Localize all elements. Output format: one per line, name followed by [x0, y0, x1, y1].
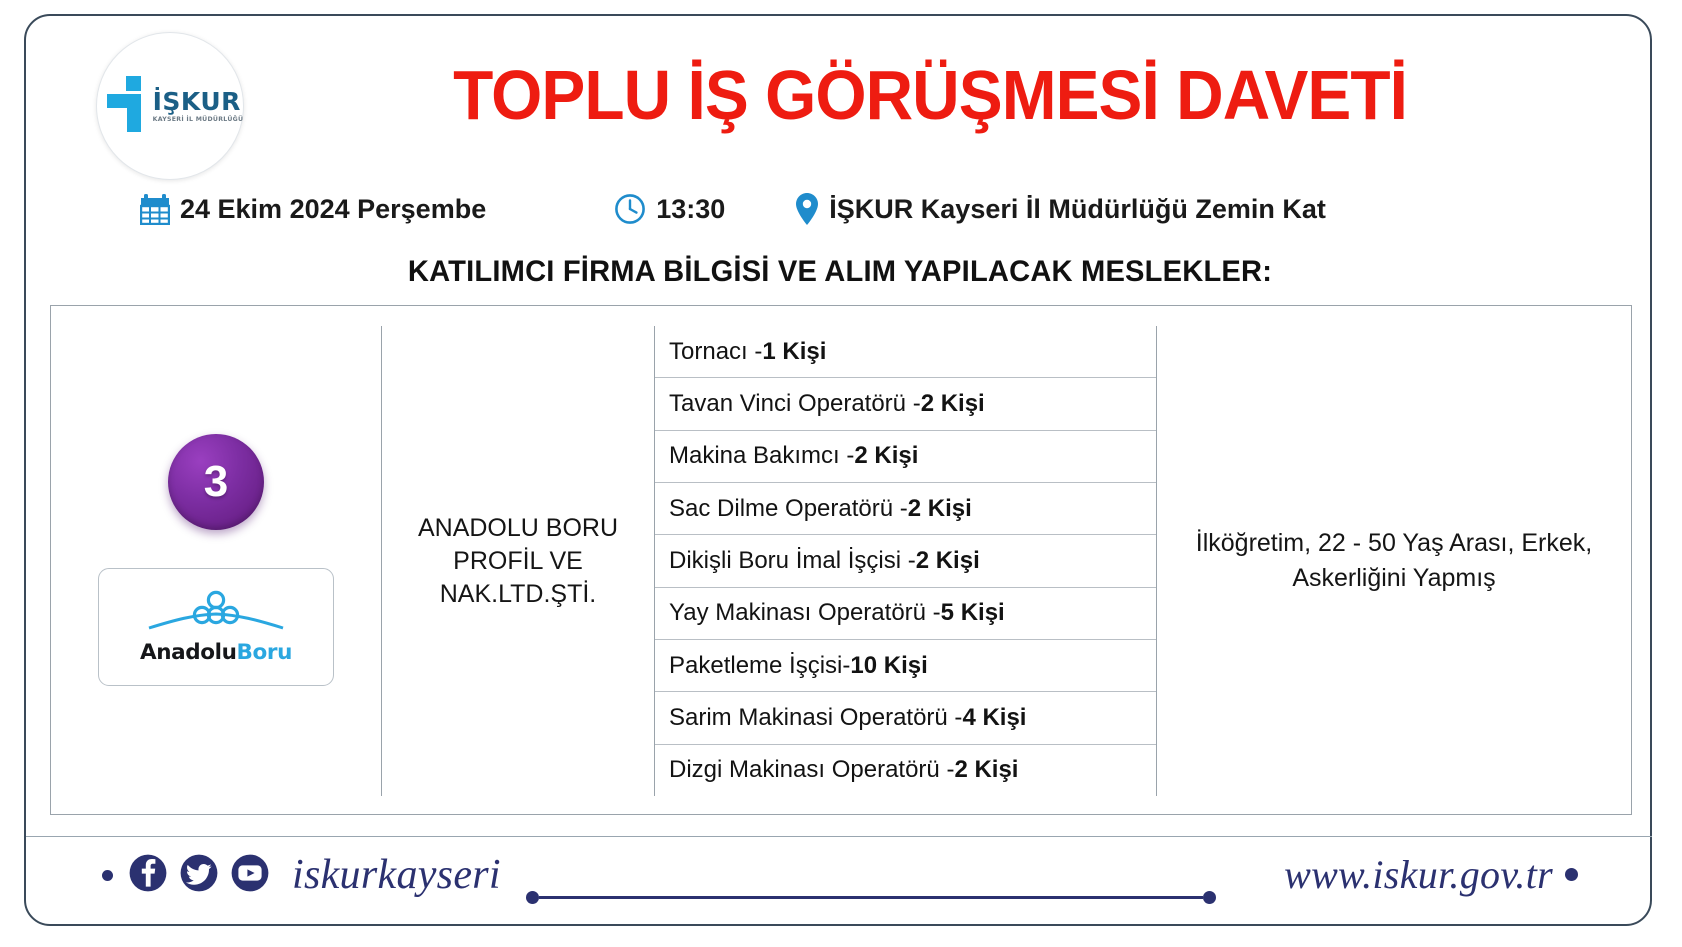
section-subtitle: KATILIMCI FİRMA BİLGİSİ VE ALIM YAPILACA…: [74, 255, 1607, 289]
job-count: 2 Kişi: [954, 756, 1018, 784]
job-title: Yay Makinası Operatörü -: [669, 599, 941, 627]
event-location-text: İŞKUR Kayseri İl Müdürlüğü Zemin Kat: [829, 194, 1326, 225]
list-item: Dizgi Makinası Operatörü - 2 Kişi: [655, 745, 1156, 796]
entry-number-badge: 3: [168, 434, 264, 530]
job-title: Makina Bakımcı -: [669, 442, 854, 470]
youtube-icon[interactable]: [230, 853, 270, 898]
job-count: 5 Kişi: [941, 599, 1005, 627]
iskur-logo-word: İŞKUR: [153, 89, 241, 114]
footer: iskurkayseri www.iskur.gov.tr: [26, 836, 1652, 925]
job-count: 2 Kişi: [854, 442, 918, 470]
event-location: İŞKUR Kayseri İl Müdürlüğü Zemin Kat: [795, 192, 1326, 226]
job-title: Sac Dilme Operatörü -: [669, 495, 908, 523]
job-title: Tavan Vinci Operatörü -: [669, 390, 921, 418]
job-title: Paketleme İşçisi-: [669, 652, 850, 680]
company-logo-text: AnadoluBoru: [140, 640, 292, 665]
event-time: 13:30: [614, 193, 725, 225]
company-logo: AnadoluBoru: [98, 568, 334, 686]
job-count: 2 Kişi: [916, 547, 980, 575]
iskur-logo: İŞKUR KAYSERİ İL MÜDÜRLÜĞÜ: [96, 32, 244, 180]
list-item: Makina Bakımcı - 2 Kişi: [655, 431, 1156, 483]
job-title: Tornacı -: [669, 338, 762, 366]
list-item: Tornacı - 1 Kişi: [655, 326, 1156, 378]
requirements-cell: İlköğretim, 22 - 50 Yaş Arası, Erkek, As…: [1157, 326, 1631, 796]
bullet-dot: [102, 870, 113, 881]
bullet-dot: [1565, 868, 1578, 881]
event-time-text: 13:30: [656, 194, 725, 225]
bullet-dot: [526, 891, 539, 904]
iskur-logo-icon: [105, 74, 149, 139]
event-date: 24 Ekim 2024 Perşembe: [140, 193, 486, 225]
job-count: 2 Kişi: [908, 495, 972, 523]
website-text[interactable]: www.iskur.gov.tr: [1284, 851, 1553, 898]
company-logo-text-blue: Boru: [237, 640, 292, 665]
job-count: 1 Kişi: [762, 338, 826, 366]
footer-divider: [526, 891, 1216, 904]
page-title: TOPLU İŞ GÖRÜŞMESİ DAVETİ: [432, 55, 1428, 135]
requirements-text: İlköğretim, 22 - 50 Yaş Arası, Erkek, As…: [1179, 526, 1609, 597]
bullet-dot: [1203, 891, 1216, 904]
event-info-row: 24 Ekim 2024 Perşembe 13:30 İŞKUR Kayser…: [140, 186, 1500, 232]
facebook-icon[interactable]: [128, 853, 168, 898]
job-count: 4 Kişi: [962, 704, 1026, 732]
participants-table: 3 AnadoluBoru: [50, 305, 1632, 815]
list-item: Paketleme İşçisi- 10 Kişi: [655, 640, 1156, 692]
social-links: iskurkayseri: [102, 851, 501, 899]
list-item: Dikişli Boru İmal İşçisi - 2 Kişi: [655, 535, 1156, 587]
company-name-text: ANADOLU BORU PROFİL VE NAK.LTD.ŞTİ.: [396, 512, 640, 611]
job-count: 10 Kişi: [850, 652, 927, 680]
company-name-cell: ANADOLU BORU PROFİL VE NAK.LTD.ŞTİ.: [382, 326, 654, 796]
map-pin-icon: [795, 192, 819, 226]
list-item: Yay Makinası Operatörü - 5 Kişi: [655, 588, 1156, 640]
list-item: Tavan Vinci Operatörü - 2 Kişi: [655, 378, 1156, 430]
job-title: Dizgi Makinası Operatörü -: [669, 756, 954, 784]
list-item: Sarim Makinasi Operatörü - 4 Kişi: [655, 692, 1156, 744]
twitter-icon[interactable]: [179, 853, 219, 898]
event-date-text: 24 Ekim 2024 Perşembe: [180, 194, 486, 225]
company-logo-text-dark: Anadolu: [140, 640, 237, 665]
job-count: 2 Kişi: [921, 390, 985, 418]
iskur-logo-subtitle: KAYSERİ İL MÜDÜRLÜĞÜ: [153, 117, 244, 123]
table-row: ANADOLU BORU PROFİL VE NAK.LTD.ŞTİ. Torn…: [381, 326, 1631, 796]
list-item: Sac Dilme Operatörü - 2 Kişi: [655, 483, 1156, 535]
entry-badge-column: 3 AnadoluBoru: [51, 306, 381, 814]
poster-root: İŞKUR KAYSERİ İL MÜDÜRLÜĞÜ TOPLU İŞ GÖRÜ…: [0, 0, 1682, 947]
divider-line: [539, 896, 1203, 899]
calendar-icon: [140, 193, 170, 225]
social-handle[interactable]: iskurkayseri: [292, 851, 501, 899]
job-title: Sarim Makinasi Operatörü -: [669, 704, 962, 732]
jobs-column: Tornacı - 1 Kişi Tavan Vinci Operatörü -…: [654, 326, 1157, 796]
job-title: Dikişli Boru İmal İşçisi -: [669, 547, 916, 575]
website-link[interactable]: www.iskur.gov.tr: [1284, 851, 1578, 898]
anadolu-boru-pipes-icon: [141, 590, 291, 639]
clock-icon: [614, 193, 646, 225]
